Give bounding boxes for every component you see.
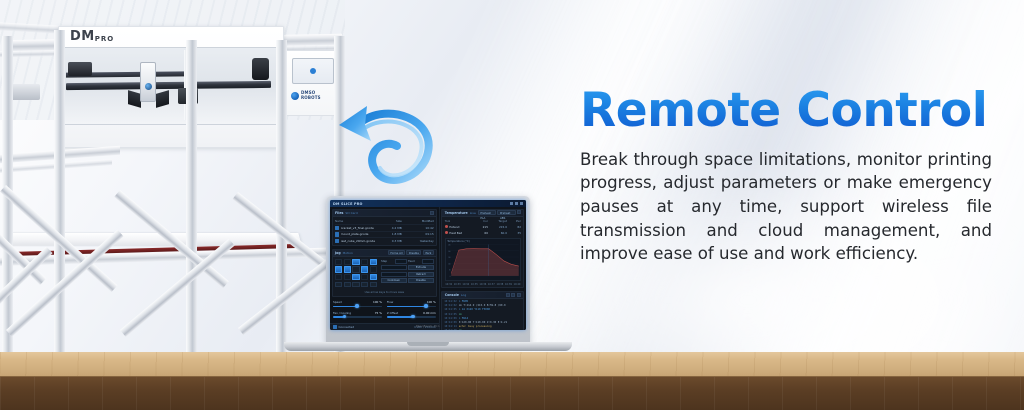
temp-tool-name: Hotend (449, 225, 459, 229)
refresh-icon[interactable] (430, 211, 434, 215)
file-size: 0.3 MB (380, 239, 402, 243)
jog-field-row-3: Retract (381, 272, 434, 277)
xtick: 10:35 (471, 283, 478, 286)
file-modified: 10:42 (404, 226, 434, 230)
temperature-panel-subtitle: Live (470, 211, 476, 215)
zoffset-slider-knob[interactable] (411, 315, 415, 319)
files-col-name: Name (335, 219, 378, 223)
vendor-line-2: ROBOTS (301, 96, 321, 101)
preheat-pla-button[interactable]: Preheat PLA (478, 210, 496, 215)
stepper-motor-left (68, 62, 92, 76)
jog-panel-title: Jog (335, 251, 341, 255)
speed-slider-knob[interactable] (355, 304, 359, 308)
jog-panel-header: Jog Motion Home All Disable Park (333, 250, 437, 257)
temp-power: 82 (509, 225, 521, 229)
series-color-swatch (445, 225, 448, 228)
jog-pad-blank-5 (335, 274, 342, 281)
home-y-button[interactable] (344, 282, 351, 287)
speed-label: Speed (333, 300, 342, 304)
temperature-panel-header: Temperature Live Preheat PLA Preheat ABS (442, 210, 523, 217)
vendor-logo: DMSO ROBOTS (291, 91, 321, 100)
files-panel-title: Files (335, 211, 343, 215)
temp-power: 35 (509, 231, 521, 235)
laptop: DM SLICE PRO Files SD C (284, 196, 572, 360)
fan-slider[interactable]: Fan / Cooling 75 % (333, 311, 382, 318)
files-panel-subtitle: SD Card (345, 211, 357, 215)
laptop-screen[interactable]: DM SLICE PRO Files SD C (330, 200, 526, 330)
temp-tool-name: Heat Bed (449, 231, 462, 235)
vendor-mark-icon (291, 92, 299, 100)
flow-label: Flow (387, 300, 393, 304)
jog-x-minus-far-button[interactable] (335, 266, 342, 273)
fan-label: Fan / Cooling (333, 311, 351, 315)
temp-current: 60 (473, 231, 488, 235)
jog-header-actions[interactable]: Home All Disable Park (388, 250, 434, 255)
jog-pad-blank-2 (344, 259, 351, 266)
home-all-axes-button[interactable] (370, 282, 377, 287)
jog-feed-input[interactable] (422, 259, 434, 264)
printer-brand-label: DMPRO (70, 29, 114, 44)
xtick: 10:33 (454, 283, 461, 286)
jog-amount-input[interactable] (381, 272, 407, 277)
files-panel: Files SD Card Name Size Modifi (332, 209, 438, 246)
temperature-panel: Temperature Live Preheat PLA Preheat ABS (441, 209, 524, 289)
zoffset-slider[interactable]: Z Offset 0.00 mm (387, 311, 436, 318)
vendor-wordmark: DMSO ROBOTS (301, 91, 321, 100)
jog-pad-blank-3 (361, 259, 368, 266)
settings-icon[interactable] (517, 293, 521, 297)
jog-pad-blank-4 (370, 266, 377, 273)
right-column: Temperature Live Preheat PLA Preheat ABS (440, 207, 526, 330)
flow-slider-fill (387, 306, 425, 307)
screen-chin: MacBook Pro (330, 321, 526, 330)
temperature-table: Tool Cur Target Pwr Hotend 215 215.0 82 (442, 217, 523, 237)
brand-text: DM (70, 29, 95, 44)
zoffset-value: 0.00 mm (423, 311, 436, 315)
app-titlebar: DM SLICE PRO (330, 200, 526, 207)
hero-description: Break through space limitations, monitor… (580, 148, 992, 266)
temperature-header-actions[interactable]: Preheat PLA Preheat ABS (478, 210, 521, 215)
temperature-chart: Temperature (°C) 050100150200250 (445, 238, 521, 281)
clear-icon[interactable] (506, 293, 510, 297)
files-panel-header: Files SD Card (333, 210, 437, 217)
home-all-button[interactable]: Home All (388, 250, 405, 255)
files-table: Name Size Modified bracket_v3_final.gcod… (333, 217, 437, 245)
jog-field-row-1: Step Feed (381, 259, 434, 264)
flow-slider-track[interactable] (387, 306, 436, 307)
temp-tool-name-wrap: Hotend (445, 225, 471, 229)
laptop-model-label: MacBook Pro (416, 324, 440, 328)
jog-field-row-4: Cooldown Disable (381, 278, 434, 283)
xtick: 10:32 (445, 283, 452, 286)
table-row[interactable]: bracket_v3_final.gcode 4.2 MB 10:42 (335, 224, 434, 231)
file-icon (335, 239, 339, 244)
frame-column-3 (186, 40, 197, 370)
extrude-button[interactable]: Extrude (408, 265, 434, 270)
speed-value: 100 % (373, 300, 382, 304)
jog-x-plus-button[interactable] (361, 266, 368, 273)
frame-column-2 (54, 30, 65, 372)
home-axis-bar[interactable] (335, 282, 377, 287)
jog-step-input[interactable] (395, 259, 407, 264)
jog-panel-subtitle: Motion (343, 251, 353, 255)
settings-icon[interactable] (517, 210, 521, 214)
hero-copy: Remote Control Break through space limit… (580, 86, 998, 266)
temp-target[interactable]: 215.0 (490, 225, 507, 229)
file-name: mount_plate.gcode (341, 232, 378, 236)
retract-button[interactable]: Retract (408, 272, 434, 277)
window-controls[interactable] (510, 202, 523, 205)
jog-pad-blank-1 (335, 259, 342, 266)
left-column: Files SD Card Name Size Modifi (330, 207, 440, 330)
log-text: > G1 X120 Y110 F3000 (459, 308, 490, 312)
console-header-actions[interactable] (506, 293, 521, 297)
svg-text:250: 250 (448, 244, 450, 246)
files-col-size: Size (380, 219, 402, 223)
jog-y-plus-button[interactable] (352, 259, 359, 266)
svg-text:200: 200 (448, 251, 450, 253)
zoffset-label: Z Offset (387, 311, 398, 315)
svg-text:50: 50 (449, 269, 450, 271)
table-row[interactable]: mount_plate.gcode 1.8 MB 09:15 (335, 231, 434, 238)
laptop-base-notch (407, 342, 449, 346)
preheat-abs-button[interactable]: Preheat ABS (497, 210, 515, 215)
promo-banner: DMPRO DMSO ROBOTS (0, 0, 1024, 410)
jog-step-label: Step (381, 259, 393, 263)
speed-slider-fill (333, 306, 356, 307)
jog-pad-blank-7 (361, 274, 368, 281)
maximize-icon[interactable] (515, 202, 518, 205)
printhead-sensor-icon (145, 83, 152, 90)
file-icon (335, 232, 339, 237)
temp-current: 215 (473, 225, 488, 229)
jog-hint-text: Use arrow keys to move axes (333, 289, 437, 296)
fan-value: 75 % (375, 311, 382, 315)
wooden-table (0, 352, 1024, 410)
flow-slider[interactable]: Flow 100 % (387, 300, 436, 307)
temperature-chart-svg: 050100150200250 (446, 239, 520, 280)
pause-icon[interactable] (511, 293, 515, 297)
file-modified: Yesterday (404, 239, 434, 243)
flow-slider-labels: Flow 100 % (387, 300, 436, 304)
minimize-icon[interactable] (510, 202, 513, 205)
xtick: 10:34 (462, 283, 469, 286)
jog-y-minus-button[interactable] (352, 274, 359, 281)
temperature-panel-title: Temperature (445, 211, 468, 215)
svg-text:150: 150 (448, 257, 450, 259)
speed-slider-track[interactable] (333, 306, 382, 307)
jog-z-plus-button[interactable] (370, 259, 377, 266)
file-name: bracket_v3_final.gcode (341, 226, 378, 230)
table-front-panel (0, 377, 1024, 410)
file-size: 1.8 MB (380, 232, 402, 236)
jog-extruder-select[interactable] (381, 265, 407, 270)
remote-link-arrow-icon (331, 96, 443, 196)
home-xy-button[interactable] (361, 282, 368, 287)
laptop-lid: DM SLICE PRO Files SD C (326, 196, 530, 344)
fan-slider-knob[interactable] (343, 315, 347, 319)
svg-text:0: 0 (449, 276, 450, 278)
app-title: DM SLICE PRO (333, 202, 363, 206)
jog-home-xy-button[interactable] (352, 266, 359, 273)
jog-fields: Step Feed Extrude (381, 259, 434, 287)
build-plate (0, 233, 302, 245)
motors-off-button[interactable]: Disable (408, 278, 434, 283)
printer-touchscreen[interactable] (292, 58, 334, 84)
table-top-surface (0, 352, 1024, 377)
jog-pad-blank-6 (344, 274, 351, 281)
brand-sub-text: PRO (95, 35, 114, 43)
table-row[interactable]: test_cube_20mm.gcode 0.3 MB Yesterday (335, 237, 434, 244)
jog-dpad-grid (335, 259, 377, 281)
home-x-button[interactable] (335, 282, 342, 287)
jog-x-minus-button[interactable] (344, 266, 351, 273)
home-z-button[interactable] (352, 282, 359, 287)
file-modified: 09:15 (404, 232, 434, 236)
temp-col-cur: Cur (473, 219, 488, 223)
temp-target[interactable]: 60.0 (490, 231, 507, 235)
slider-row-2: Fan / Cooling 75 % (333, 311, 436, 318)
cooldown-button[interactable]: Cooldown (381, 278, 407, 283)
slider-row-1: Speed 100 % (333, 300, 436, 307)
jog-z-minus-button[interactable] (370, 274, 377, 281)
xtick: 10:40 (514, 283, 521, 286)
chart-x-axis: 10:32 10:33 10:34 10:35 10:36 10:37 10:3… (442, 283, 523, 287)
files-header-actions[interactable] (430, 211, 434, 215)
temp-col-target: Target (490, 219, 507, 223)
xtick: 10:36 (479, 283, 486, 286)
files-col-modified: Modified (404, 219, 434, 223)
console-panel-title: Console (445, 293, 459, 297)
jog-controls: Step Feed Extrude (333, 257, 437, 289)
zoffset-slider-fill (387, 316, 412, 317)
park-button[interactable]: Park (423, 250, 434, 255)
console-panel-header: Console Log (442, 292, 523, 299)
jog-field-row-2: Extrude (381, 265, 434, 270)
xtick: 10:39 (505, 283, 512, 286)
flow-value: 100 % (427, 300, 436, 304)
file-size: 4.2 MB (380, 226, 402, 230)
disable-motors-button[interactable]: Disable (406, 250, 421, 255)
fan-slider-track[interactable] (333, 316, 382, 317)
app-body: Files SD Card Name Size Modifi (330, 207, 526, 330)
xtick: 10:38 (496, 283, 503, 286)
jog-dpad[interactable] (335, 259, 377, 287)
temp-col-tool: Tool (445, 219, 471, 223)
table-row[interactable]: Heat Bed 60 60.0 35 (445, 230, 521, 236)
temp-col-pwr: Pwr (509, 219, 521, 223)
flow-slider-knob[interactable] (424, 304, 428, 308)
power-dot-icon (310, 68, 316, 74)
speed-slider[interactable]: Speed 100 % (333, 300, 382, 307)
zoffset-slider-track[interactable] (387, 316, 436, 317)
jog-feed-label: Feed (408, 259, 420, 263)
fan-slider-labels: Fan / Cooling 75 % (333, 311, 382, 315)
sliders-section: Speed 100 % (330, 298, 439, 323)
file-icon (335, 226, 339, 231)
svg-text:100: 100 (448, 263, 450, 265)
file-name: test_cube_20mm.gcode (341, 239, 378, 243)
print-head (140, 62, 156, 102)
close-icon[interactable] (520, 202, 523, 205)
jog-panel: Jog Motion Home All Disable Park (332, 249, 438, 297)
console-panel-subtitle: Log (461, 293, 466, 297)
stepper-motor-right (252, 58, 269, 80)
page-title: Remote Control (580, 86, 998, 136)
xtick: 10:37 (488, 283, 495, 286)
temp-tool-name-wrap-2: Heat Bed (445, 231, 471, 235)
deck-block (10, 84, 40, 100)
series-color-swatch (445, 231, 448, 234)
frame-column-1 (2, 36, 13, 372)
